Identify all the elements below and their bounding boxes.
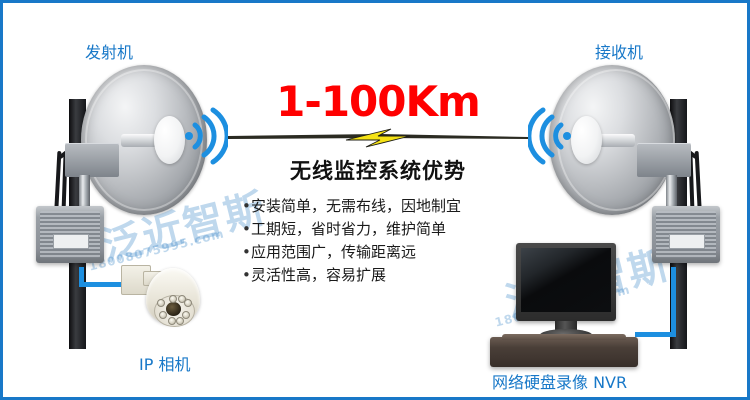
- ir-led-8: [178, 295, 186, 303]
- feed-horn-right: [571, 116, 602, 164]
- ir-led-1: [157, 299, 165, 307]
- bullet-marker: •: [242, 195, 251, 218]
- wifi-waves-transmit-icon: [184, 107, 228, 165]
- dish-bracket-right: [637, 143, 691, 177]
- poster-canvas: 泛近智斯 18008075995.com 泛近智斯 18008075995.co…: [0, 0, 750, 400]
- list-item: •安装简单，无需布线，因地制宜: [242, 195, 528, 218]
- enclosure-label-left: [53, 234, 89, 249]
- radio-enclosure-left: [36, 206, 104, 263]
- ir-led-7: [169, 295, 177, 303]
- range-headline: 1-100Km: [228, 81, 528, 123]
- ir-led-6: [176, 317, 184, 325]
- list-item-label: 应用范围广，传输距离远: [251, 243, 416, 261]
- list-item: •灵活性高，容易扩展: [242, 264, 528, 287]
- list-item: •工期短，省时省力，维护简单: [242, 218, 528, 241]
- label-transmitter: 发射机: [85, 39, 133, 63]
- support-mast-right: [666, 175, 677, 209]
- bullet-marker: •: [242, 264, 251, 287]
- cable-right-run: [635, 332, 676, 337]
- enclosure-label-right: [669, 234, 705, 249]
- ir-led-3: [159, 311, 167, 319]
- nvr-chassis: [490, 337, 638, 367]
- label-ip-camera: IP 相机: [139, 351, 190, 375]
- watermark-phone: 18008075995.com: [87, 226, 226, 273]
- bullet-marker: •: [242, 241, 251, 264]
- label-nvr: 网络硬盘录像 NVR: [492, 369, 627, 393]
- ir-led-5: [168, 317, 176, 325]
- list-item-label: 安装简单，无需布线，因地制宜: [251, 197, 461, 215]
- label-receiver: 接收机: [595, 39, 643, 63]
- camera-lens: [166, 302, 181, 316]
- radio-enclosure-right: [652, 206, 720, 263]
- nvr-top-panel: [502, 334, 626, 340]
- support-mast-left: [79, 175, 90, 209]
- cable-right-drop: [671, 267, 676, 337]
- dish-bracket-left: [65, 143, 119, 177]
- wifi-waves-receive-icon: [528, 107, 572, 165]
- monitor-screen: [521, 248, 611, 312]
- list-item-label: 灵活性高，容易扩展: [251, 266, 386, 284]
- bullet-marker: •: [242, 218, 251, 241]
- feed-horn-left: [154, 116, 185, 164]
- section-subtitle: 无线监控系统优势: [228, 155, 528, 185]
- advantages-list: •安装简单，无需布线，因地制宜 •工期短，省时省力，维护简单 •应用范围广，传输…: [228, 195, 528, 287]
- lightning-bolt-icon: [228, 127, 528, 149]
- lightning-divider: [228, 127, 528, 149]
- list-item-label: 工期短，省时省力，维护简单: [251, 220, 446, 238]
- list-item: •应用范围广，传输距离远: [242, 241, 528, 264]
- centre-text-block: 1-100Km 无线监控系统优势 •安装简单，无需布线，因地制宜 •工期短，省时…: [228, 81, 528, 287]
